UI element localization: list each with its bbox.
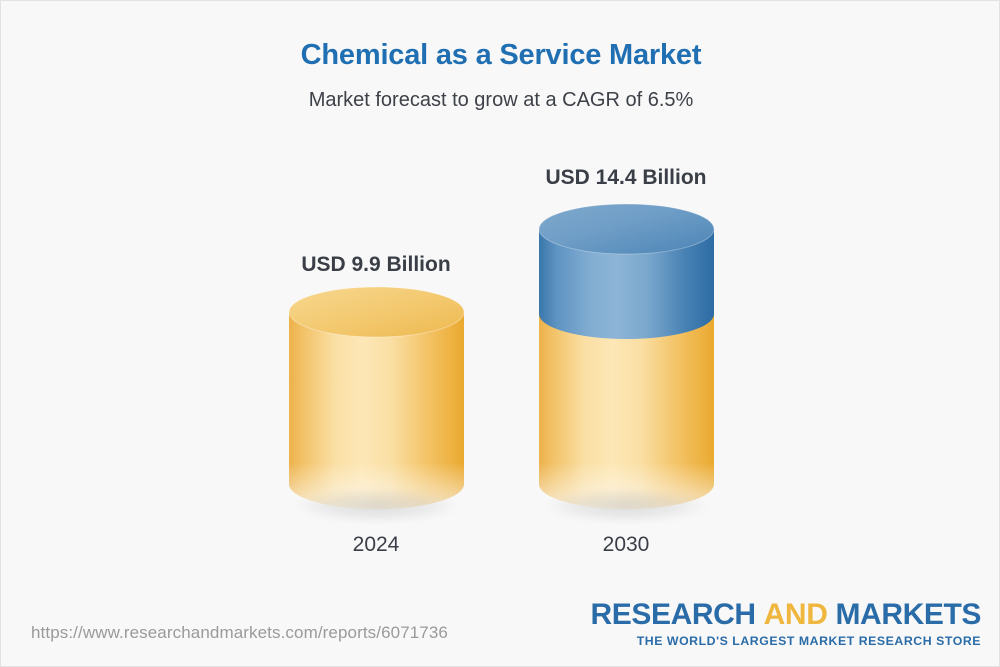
bar-shape-2024	[289, 287, 464, 509]
category-label-2024: 2024	[276, 533, 476, 557]
brand-logo[interactable]: RESEARCHANDMARKETS THE WORLD'S LARGEST M…	[591, 599, 981, 648]
category-label-2030: 2030	[526, 533, 726, 557]
bar-shadow-2030	[545, 489, 708, 523]
brand-tagline: THE WORLD'S LARGEST MARKET RESEARCH STOR…	[591, 634, 981, 648]
bar-shape-2030	[539, 204, 714, 509]
brand-word-markets: MARKETS	[835, 598, 981, 631]
bar-cylinder-2030	[539, 204, 714, 509]
brand-word-and: AND	[764, 598, 828, 631]
bar-shadow-2024	[295, 489, 458, 523]
value-label-2030: USD 14.4 Billion	[526, 166, 726, 190]
market-infographic: Chemical as a Service Market Market fore…	[0, 0, 1000, 667]
report-url-link[interactable]: https://www.researchandmarkets.com/repor…	[31, 623, 448, 643]
page-title: Chemical as a Service Market	[1, 39, 1000, 72]
brand-wordmark: RESEARCHANDMARKETS	[591, 599, 981, 631]
bar-cylinder-2024	[289, 287, 464, 509]
brand-word-research: RESEARCH	[591, 598, 756, 631]
value-label-2024: USD 9.9 Billion	[276, 253, 476, 277]
page-subtitle: Market forecast to grow at a CAGR of 6.5…	[1, 89, 1000, 112]
